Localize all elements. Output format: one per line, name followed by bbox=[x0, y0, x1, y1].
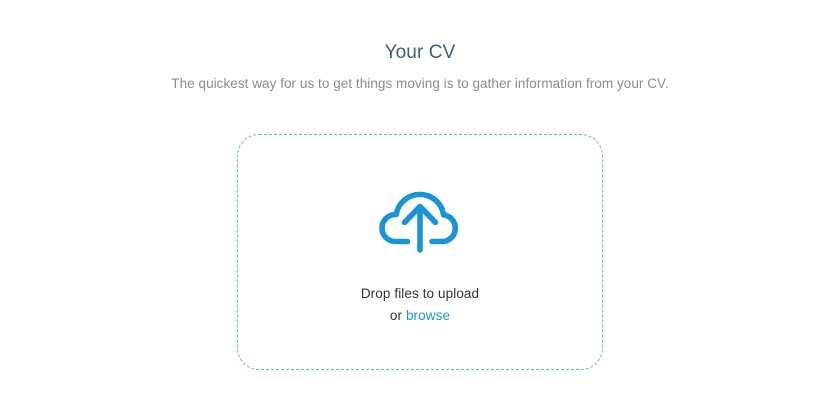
page-title: Your CV bbox=[0, 41, 840, 65]
cv-upload-page: Your CV The quickest way for us to get t… bbox=[0, 0, 840, 420]
dropzone-primary-text: Drop files to upload bbox=[361, 284, 479, 303]
cloud-upload-icon bbox=[378, 180, 462, 256]
dropzone-text: Drop files to upload or browse bbox=[361, 284, 479, 325]
dropzone-secondary-text: or browse bbox=[361, 306, 479, 325]
or-label: or bbox=[390, 308, 406, 323]
browse-link[interactable]: browse bbox=[406, 308, 450, 323]
file-dropzone[interactable]: Drop files to upload or browse bbox=[237, 134, 603, 370]
page-subtitle: The quickest way for us to get things mo… bbox=[0, 75, 840, 93]
dropzone-container: Drop files to upload or browse bbox=[237, 134, 603, 370]
page-header: Your CV The quickest way for us to get t… bbox=[0, 0, 840, 93]
